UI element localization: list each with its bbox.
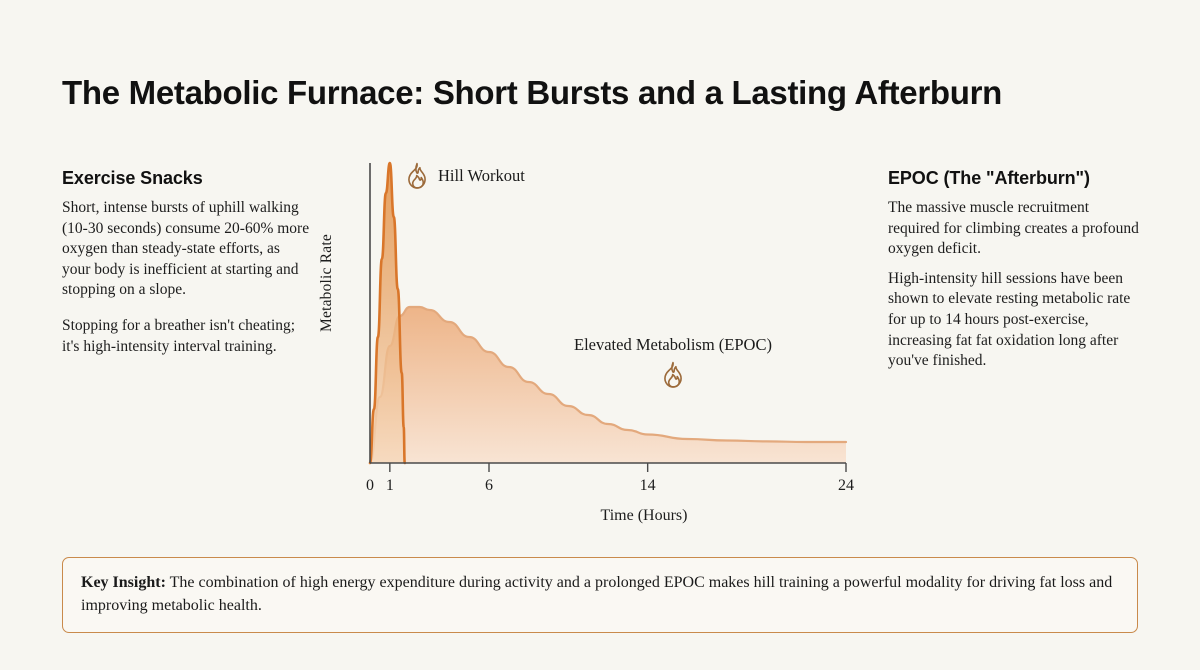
x-tick-label: 6 [485, 477, 493, 495]
x-axis-label: Time (Hours) [601, 507, 688, 525]
key-insight-label: Key Insight: [81, 574, 166, 591]
right-panel-heading: EPOC (The "Afterburn") [888, 168, 1144, 189]
left-panel-paragraph-2: Stopping for a breather isn't cheating; … [62, 316, 312, 357]
x-tick-label: 1 [386, 477, 394, 495]
x-tick-label: 0 [366, 477, 374, 495]
right-panel-paragraph-1: The massive muscle recruitment required … [888, 198, 1144, 260]
infographic-page: The Metabolic Furnace: Short Bursts and … [0, 0, 1200, 670]
key-insight-box: Key Insight: The combination of high ene… [62, 557, 1138, 633]
right-panel-paragraph-2: High-intensity hill sessions have been s… [888, 269, 1144, 372]
left-panel-paragraph-1: Short, intense bursts of uphill walking … [62, 198, 312, 301]
annotation-epoc-label: Elevated Metabolism (EPOC) [574, 335, 772, 355]
panel-exercise-snacks: Exercise Snacks Short, intense bursts of… [62, 168, 312, 357]
annotation-epoc: Elevated Metabolism (EPOC) [574, 335, 772, 389]
panel-epoc: EPOC (The "Afterburn") The massive muscl… [888, 168, 1144, 372]
x-axis-ticks [390, 463, 846, 472]
x-tick-label: 24 [838, 477, 854, 495]
page-title: The Metabolic Furnace: Short Bursts and … [62, 74, 1152, 112]
left-panel-heading: Exercise Snacks [62, 168, 312, 189]
metabolic-rate-chart: Metabolic Rate Time (Hours) 0161424 Hill… [326, 150, 866, 550]
key-insight-body: The combination of high energy expenditu… [81, 574, 1112, 614]
annotation-hill-workout: Hill Workout [404, 162, 525, 190]
annotation-hill-workout-label: Hill Workout [438, 166, 525, 186]
flame-icon [404, 162, 430, 190]
y-axis-label: Metabolic Rate [318, 234, 336, 332]
flame-icon [660, 361, 686, 389]
x-tick-label: 14 [640, 477, 656, 495]
key-insight-text: Key Insight: The combination of high ene… [81, 572, 1119, 617]
